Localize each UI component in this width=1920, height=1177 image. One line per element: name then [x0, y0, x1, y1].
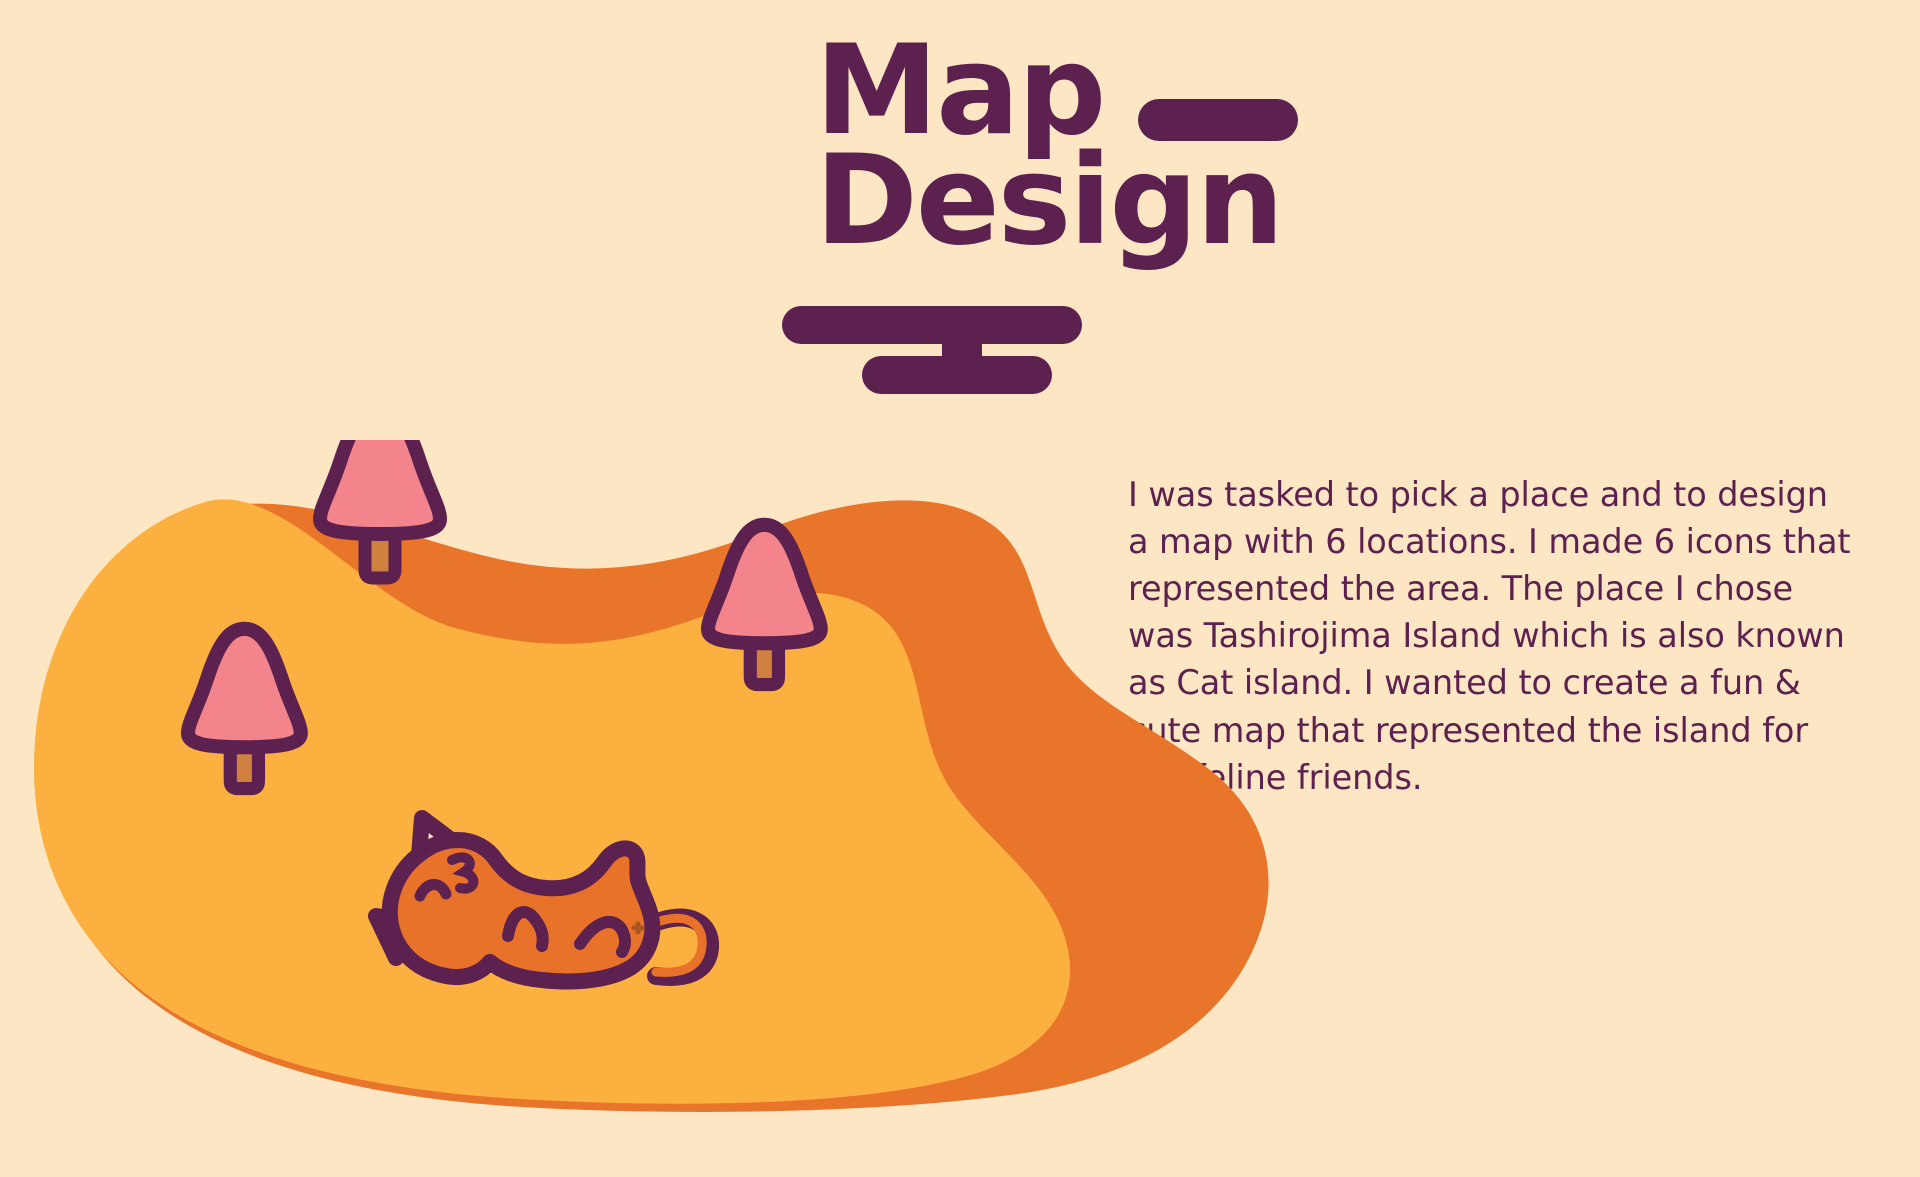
title-block: Map Design	[815, 38, 1335, 368]
island-illustration-svg	[0, 440, 1330, 1177]
tree-1-canopy	[320, 440, 440, 534]
motif-bar-top	[782, 306, 1082, 344]
island-illustration	[0, 440, 1330, 1177]
page-title-line-2: Design	[815, 148, 1282, 255]
motif-bar-bottom	[862, 356, 1052, 394]
title-decorative-motif	[782, 306, 1112, 402]
poster-canvas: Map Design I was tasked to pick a place …	[0, 0, 1920, 1177]
